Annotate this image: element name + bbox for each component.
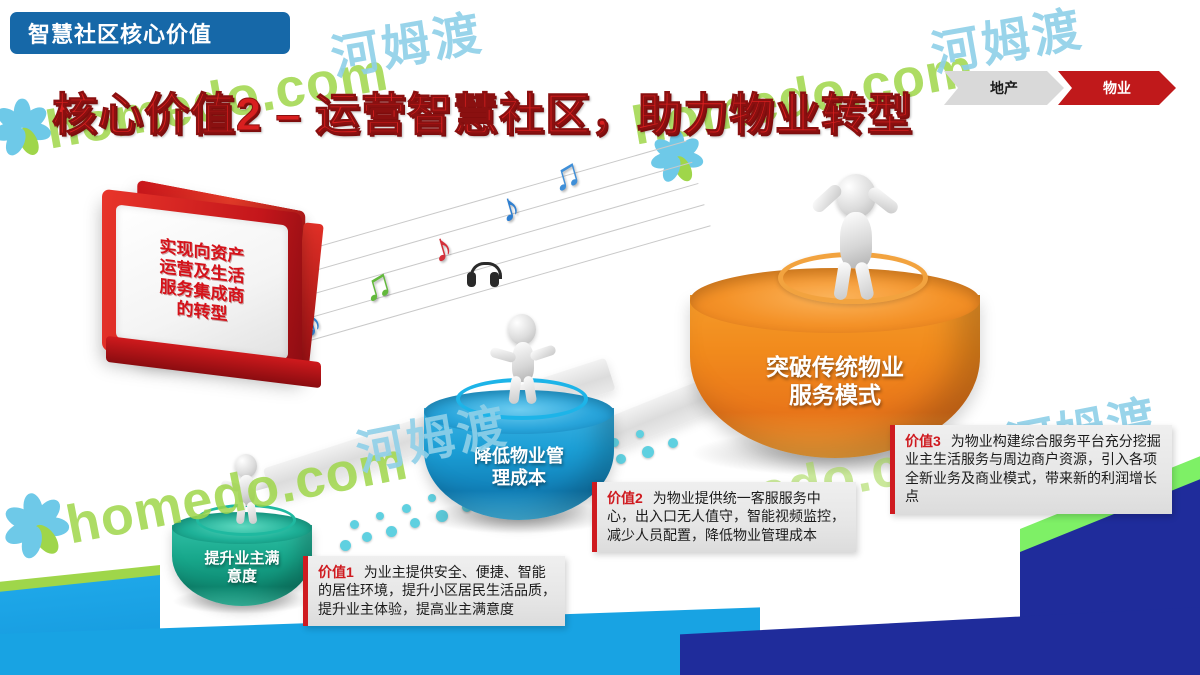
bowl-orange-label: 突破传统物业 服务模式 bbox=[690, 354, 980, 409]
callout-value-1-key: 价值1 bbox=[318, 564, 354, 580]
headphones-icon bbox=[466, 262, 500, 292]
a-frame-sign: 实现向资产 运营及生活 服务集成商 的转型 bbox=[100, 193, 340, 378]
flow-chevrons: 地产 物业 bbox=[944, 70, 1176, 106]
flow-step-real-estate[interactable]: 地产 bbox=[944, 71, 1064, 105]
callout-value-2-key: 价值2 bbox=[607, 490, 643, 506]
figure-arm-right bbox=[251, 478, 272, 491]
bowl-blue-label: 降低物业管 理成本 bbox=[424, 446, 614, 489]
bowl-blue-label-line-1: 降低物业管 bbox=[424, 446, 614, 468]
slide-canvas: homedo.com 河姆渡 homedo.com 河姆渡 bbox=[0, 0, 1200, 675]
figure-leg-left bbox=[833, 261, 852, 301]
music-note-3: ♪ bbox=[427, 226, 457, 270]
figure-leg-left bbox=[508, 375, 521, 404]
figure-leg-left bbox=[236, 502, 246, 525]
callout-value-3-key: 价值3 bbox=[905, 433, 941, 449]
bowl-blue-label-line-2: 理成本 bbox=[424, 468, 614, 490]
figure-on-blue-bowl bbox=[486, 312, 558, 404]
callout-value-2: 价值2为物业提供统一客服服务中心，出入口无人值守，智能视频监控，减少人员配置，降… bbox=[592, 482, 856, 552]
bowl-green-label-line-2: 意度 bbox=[172, 568, 312, 586]
bowl-orange-label-line-1: 突破传统物业 bbox=[690, 354, 980, 382]
sign-face: 实现向资产 运营及生活 服务集成商 的转型 bbox=[116, 204, 288, 359]
flower-logo-icon-bottom bbox=[0, 484, 78, 567]
callout-value-3: 价值3为物业构建综合服务平台充分挖掘业主生活服务与周边商户资源，引入各项全新业务… bbox=[890, 425, 1172, 514]
bowl-green-label: 提升业主满 意度 bbox=[172, 550, 312, 586]
bowl-orange-label-line-2: 服务模式 bbox=[690, 382, 980, 410]
flow-step-property-label: 物业 bbox=[1103, 78, 1131, 98]
header-badge[interactable]: 智慧社区核心价值 bbox=[10, 12, 290, 54]
figure-leg-right bbox=[523, 375, 537, 404]
music-note-4: ♪ bbox=[495, 186, 525, 230]
bowl-green-label-line-1: 提升业主满 bbox=[172, 550, 312, 568]
callout-value-3-text: 为物业构建综合服务平台充分挖掘业主生活服务与周边商户资源，引入各项全新业务及商业… bbox=[905, 433, 1161, 504]
flow-step-property[interactable]: 物业 bbox=[1058, 71, 1176, 105]
sign-text: 实现向资产 运营及生活 服务集成商 的转型 bbox=[127, 233, 277, 332]
page-title: 核心价值2 – 运营智慧社区，助力物业转型 bbox=[52, 78, 913, 143]
figure-on-orange-bowl bbox=[800, 170, 910, 300]
figure-arm-right bbox=[529, 344, 557, 362]
music-note-5: ♫ bbox=[546, 152, 586, 199]
figure-on-green-bowl bbox=[218, 452, 274, 524]
header-badge-label: 智慧社区核心价值 bbox=[28, 17, 212, 49]
flow-step-real-estate-label: 地产 bbox=[990, 78, 1018, 98]
figure-leg-right bbox=[854, 261, 875, 301]
callout-value-1: 价值1为业主提供安全、便捷、智能的居住环境，提升小区居民生活品质，提升业主体验，… bbox=[303, 556, 565, 626]
figure-torso bbox=[840, 212, 872, 268]
figure-head bbox=[508, 314, 536, 345]
figure-leg-right bbox=[247, 502, 258, 525]
